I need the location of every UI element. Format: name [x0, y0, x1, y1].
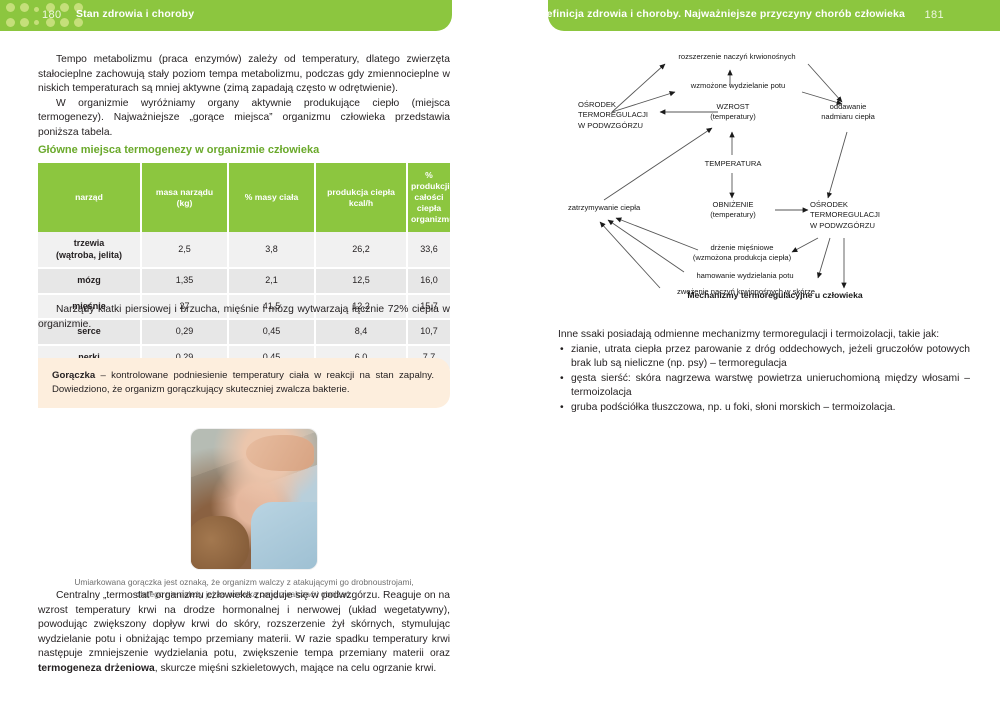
list-item: gruba podściółka tłuszczowa, np. u foki,…	[571, 401, 970, 416]
callout-fever: Gorączka – kontrolowane podniesienie tem…	[38, 358, 450, 408]
table-cell-value: 1,35	[141, 268, 228, 294]
header-dot	[34, 20, 39, 25]
diagram-node-temperature: TEMPERATURA	[688, 159, 778, 169]
table-cell-organ: trzewia(wątroba, jelita)	[38, 232, 141, 268]
paragraph-thermogenesis: W organizmie wyróżniamy organy aktywnie …	[38, 97, 450, 141]
table-cell-value: 2,5	[141, 232, 228, 268]
callout-fever-wrapper: Gorączka – kontrolowane podniesienie tem…	[38, 358, 450, 408]
table-cell-value: 3,8	[228, 232, 315, 268]
left-text-block-top: Tempo metabolizmu (praca enzymów) zależy…	[38, 53, 450, 141]
photo-shape-hand	[246, 435, 314, 471]
diagram-node-rise: WZROST(temperatury)	[700, 102, 766, 123]
header-left-page: 180 Stan zdrowia i choroby	[0, 0, 452, 31]
paragraph-hypothalamus-part2: , skurcze mięśni szkieletowych, mające n…	[155, 663, 437, 674]
table-col-organ: narząd	[38, 163, 141, 232]
callout-term: Gorączka	[52, 370, 95, 381]
diagram-node-sweat-inhibition: hamowanie wydzielania potu	[682, 271, 808, 281]
thermogenesis-table: narząd masa narządu(kg) % masy ciała pro…	[38, 163, 450, 369]
table-cell-value: 12,5	[315, 268, 407, 294]
header-left-title: Stan zdrowia i choroby	[76, 8, 194, 20]
table-row: mózg1,352,112,516,0	[38, 268, 450, 294]
diagram-node-center-top: OŚRODEKTERMOREGULACJIW PODWZGÓRZU	[578, 100, 648, 131]
paragraph-hypothalamus-bold: termogeneza drżeniowa	[38, 663, 155, 674]
table-cell-value: 33,6	[407, 232, 450, 268]
diagram-node-vasodilation: rozszerzenie naczyń krwionośnych	[662, 52, 812, 62]
header-dot	[6, 18, 15, 27]
list-item: gęsta sierść: skóra nagrzewa warstwę pow…	[571, 372, 970, 401]
diagram-node-heat-retention: zatrzymywanie ciepła	[568, 203, 640, 213]
right-text-block: Inne ssaki posiadają odmienne mechanizmy…	[558, 328, 970, 416]
header-right-title: Definicja zdrowia i choroby. Najważniejs…	[548, 8, 905, 20]
diagram-node-shivering: drżenie mięśniowe(wzmożona produkcja cie…	[684, 243, 800, 264]
paragraph-72-percent: Narządy klatki piersiowej i brzucha, mię…	[38, 303, 450, 332]
table-section: Główne miejsca termogenezy w organizmie …	[38, 144, 450, 369]
photo-shape-blanket	[251, 502, 317, 569]
table-cell-value: 16,0	[407, 268, 450, 294]
header-dot	[20, 3, 29, 12]
table-header-row: narząd masa narządu(kg) % masy ciała pro…	[38, 163, 450, 232]
left-text-block-bottom: Centralny „termostat” organizmu człowiek…	[38, 589, 450, 677]
table-col-mass: masa narządu(kg)	[141, 163, 228, 232]
header-dot	[34, 7, 39, 12]
diagram-node-heat-release: oddawanienadmiaru ciepła	[806, 102, 890, 123]
table-title: Główne miejsca termogenezy w organizmie …	[38, 144, 450, 156]
diagram-node-drop: OBNIŻENIE(temperatury)	[698, 200, 768, 221]
header-dot	[6, 3, 15, 12]
table-col-pct-total-heat: % produkcjicałości ciepłaorganizmu	[407, 163, 450, 232]
table-cell-value: 26,2	[315, 232, 407, 268]
diagram-caption: Mechanizmy termoregulacyjne u człowieka	[560, 290, 990, 300]
paragraph-other-mammals: Inne ssaki posiadają odmienne mechanizmy…	[558, 328, 970, 343]
photo-sick-child	[191, 429, 317, 569]
list-item: zianie, utrata ciepła przez parowanie z …	[571, 343, 970, 372]
table-cell-organ: mózg	[38, 268, 141, 294]
table-cell-value: 2,1	[228, 268, 315, 294]
table-row: trzewia(wątroba, jelita)2,53,826,233,6	[38, 232, 450, 268]
header-right-page: 181 Definicja zdrowia i choroby. Najważn…	[548, 0, 1000, 31]
paragraph-hypothalamus: Centralny „termostat” organizmu człowiek…	[38, 589, 450, 677]
left-text-block-mid: Narządy klatki piersiowej i brzucha, mię…	[38, 303, 450, 332]
table-col-heat-production: produkcja ciepłakcal/h	[315, 163, 407, 232]
paragraph-metabolism: Tempo metabolizmu (praca enzymów) zależy…	[38, 53, 450, 97]
table-col-pct-body-mass: % masy ciała	[228, 163, 315, 232]
diagram-node-sweating: wzmożone wydzielanie potu	[672, 81, 804, 91]
thermoregulation-diagram: OŚRODEKTERMOREGULACJIW PODWZGÓRZU rozsze…	[560, 40, 990, 305]
diagram-node-center-bottom: OŚRODEKTERMOREGULACJIW PODWZGÓRZU	[810, 200, 880, 231]
header-dot	[20, 18, 29, 27]
mammal-mechanisms-list: zianie, utrata ciepła przez parowanie z …	[558, 343, 970, 416]
page-number-right: 181	[924, 9, 944, 21]
callout-text: – kontrolowane podniesienie temperatury …	[52, 370, 434, 395]
page-number-left: 180	[42, 9, 62, 21]
photo-shape-teddy-bear	[191, 516, 249, 569]
paragraph-hypothalamus-part1: Centralny „termostat” organizmu człowiek…	[38, 590, 450, 659]
